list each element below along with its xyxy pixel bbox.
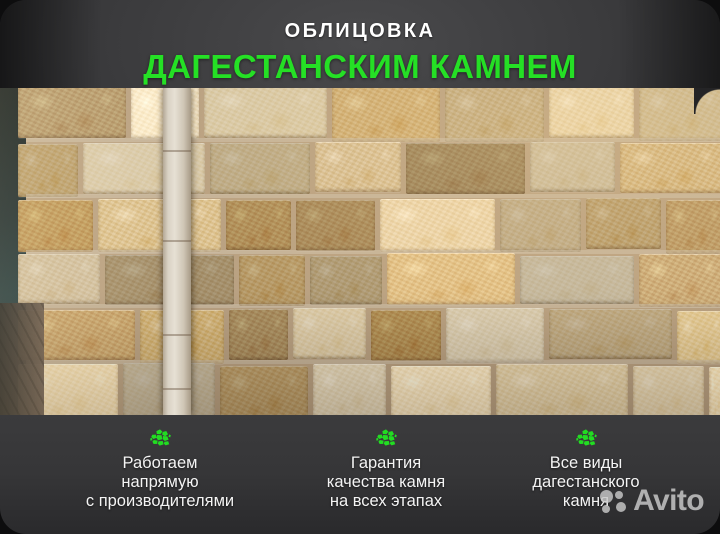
feature-line: Работаем <box>34 454 286 473</box>
page-title: ДАГЕСТАНСКИМ КАМНЕМ <box>143 50 577 83</box>
stone-block <box>446 308 545 362</box>
stone-block <box>18 200 93 252</box>
feature-line: с производителями <box>34 492 286 511</box>
pavement-shadow <box>0 303 44 415</box>
stone-block <box>520 256 633 304</box>
advertisement-card: ОБЛИЦОВКА ДАГЕСТАНСКИМ КАМНЕМ <box>0 0 720 534</box>
avito-logo-icon <box>600 489 627 514</box>
feature-line: Гарантия <box>286 454 486 473</box>
stone-block <box>313 364 386 415</box>
stone-block <box>445 88 544 142</box>
masonry-wall <box>26 88 720 415</box>
stone-block <box>709 367 720 415</box>
stone-block <box>220 366 308 415</box>
feature-line: на всех этапах <box>286 492 486 511</box>
mortar-joint <box>26 304 720 308</box>
stone-block <box>18 254 100 304</box>
page-subtitle: ОБЛИЦОВКА <box>285 21 436 41</box>
stone-block <box>226 200 291 250</box>
feature-bar: Работаем напрямую с производителями <box>0 415 720 534</box>
mortar-joint <box>26 250 720 254</box>
stone-block <box>391 366 490 415</box>
stone-block <box>677 311 720 364</box>
feature-line: качества камня <box>286 473 486 492</box>
avito-watermark: Avito <box>600 486 704 516</box>
stone-cluster-icon <box>486 426 686 450</box>
stone-block <box>496 364 628 415</box>
feature-item-quality-guarantee: Гарантия качества камня на всех этапах <box>286 415 486 511</box>
stone-block <box>549 309 672 359</box>
feature-line: Все виды <box>486 454 686 473</box>
stone-block <box>98 199 220 253</box>
stone-block <box>620 143 720 193</box>
header: ОБЛИЦОВКА ДАГЕСТАНСКИМ КАМНЕМ <box>0 0 720 88</box>
feature-text: Работаем напрямую с производителями <box>34 454 286 511</box>
stone-block <box>633 366 704 415</box>
stone-block <box>239 255 305 306</box>
stone-block <box>332 88 440 142</box>
stone-block <box>296 200 375 252</box>
stone-block <box>406 143 525 194</box>
stone-block <box>204 88 327 138</box>
stone-block <box>371 310 441 362</box>
stone-block <box>210 143 310 194</box>
corner-pillar <box>163 88 191 415</box>
stone-block <box>229 309 289 360</box>
photo-corner-mask <box>694 88 720 114</box>
stone-block <box>387 253 515 305</box>
stone-block <box>380 199 495 252</box>
stone-block <box>639 254 720 306</box>
stone-block <box>18 144 78 197</box>
stone-block <box>530 142 615 193</box>
stone-block <box>500 199 581 251</box>
stone-block <box>310 256 382 304</box>
stone-block <box>586 198 662 249</box>
feature-item-direct-manufacturers: Работаем напрямую с производителями <box>34 415 286 511</box>
stone-block <box>666 200 720 254</box>
stone-block <box>293 308 365 359</box>
stone-cluster-icon <box>34 426 286 450</box>
stone-block <box>315 142 401 193</box>
stone-block <box>18 88 126 138</box>
stone-wall-photo <box>0 88 720 415</box>
feature-text: Гарантия качества камня на всех этапах <box>286 454 486 511</box>
avito-brand-text: Avito <box>633 486 704 516</box>
feature-line: напрямую <box>34 473 286 492</box>
stone-block <box>549 88 634 138</box>
stone-cluster-icon <box>286 426 486 450</box>
